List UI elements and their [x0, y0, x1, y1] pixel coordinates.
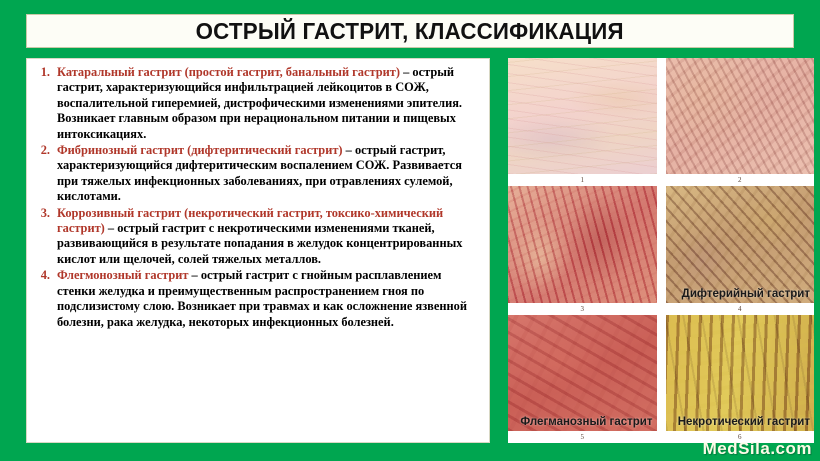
photo-cell: Дифтерийный гастрит 4: [666, 186, 815, 314]
list-item-number: 4.: [33, 268, 57, 283]
photo-number-label: 2: [666, 175, 815, 186]
photo-cell: Некротический гастрит 6: [666, 315, 815, 443]
slide-title-banner: ОСТРЫЙ ГАСТРИТ, КЛАССИФИКАЦИЯ: [26, 14, 794, 48]
list-item-body: Коррозивный гастрит (некротический гастр…: [57, 206, 481, 268]
photo-cell: 1: [508, 58, 657, 186]
photo-grid: 1 2 3 Дифтерийный гастрит 4 Флегманозный…: [508, 58, 814, 443]
fibrinous-gastritis-photo: [508, 186, 657, 302]
classification-text-panel: 1. Катаральный гастрит (простой гастрит,…: [26, 58, 490, 443]
photo-number-label: 1: [508, 175, 657, 186]
list-item: 3. Коррозивный гастрит (некротический га…: [33, 206, 481, 268]
list-item-body: Катаральный гастрит (простой гастрит, ба…: [57, 65, 481, 142]
photo-cell: 2: [666, 58, 815, 186]
list-item: 4. Флегмонозный гастрит – острый гастрит…: [33, 268, 481, 330]
phlegmonous-gastritis-photo: [508, 315, 657, 431]
photo-number-label: 5: [508, 432, 657, 443]
necrotic-gastritis-photo: [666, 315, 815, 431]
list-item-body: Фибринозный гастрит (дифтеритический гас…: [57, 143, 481, 205]
list-item-number: 2.: [33, 143, 57, 158]
photo-number-label: 4: [666, 304, 815, 315]
page-title: ОСТРЫЙ ГАСТРИТ, КЛАССИФИКАЦИЯ: [196, 18, 624, 45]
list-item-description: – острый гастрит с некротическими измене…: [57, 221, 462, 266]
list-item-term: Флегмонозный гастрит: [57, 268, 188, 282]
photo-cell: 3: [508, 186, 657, 314]
photo-cell: Флегманозный гастрит 5: [508, 315, 657, 443]
list-item-term: Фибринозный гастрит (дифтеритический гас…: [57, 143, 343, 157]
list-item-number: 1.: [33, 65, 57, 80]
photo-panel: 1 2 3 Дифтерийный гастрит 4 Флегманозный…: [508, 58, 814, 443]
list-item-number: 3.: [33, 206, 57, 221]
photo-number-label: 3: [508, 304, 657, 315]
list-item-term: Катаральный гастрит (простой гастрит, ба…: [57, 65, 400, 79]
gastric-rugae-photo: [666, 58, 815, 174]
watermark: MedSila.com: [703, 439, 812, 459]
list-item: 2. Фибринозный гастрит (дифтеритический …: [33, 143, 481, 205]
diphtheritic-gastritis-photo: [666, 186, 815, 302]
list-item-body: Флегмонозный гастрит – острый гастрит с …: [57, 268, 481, 330]
catarrhal-mucosa-photo: [508, 58, 657, 174]
list-item: 1. Катаральный гастрит (простой гастрит,…: [33, 65, 481, 142]
